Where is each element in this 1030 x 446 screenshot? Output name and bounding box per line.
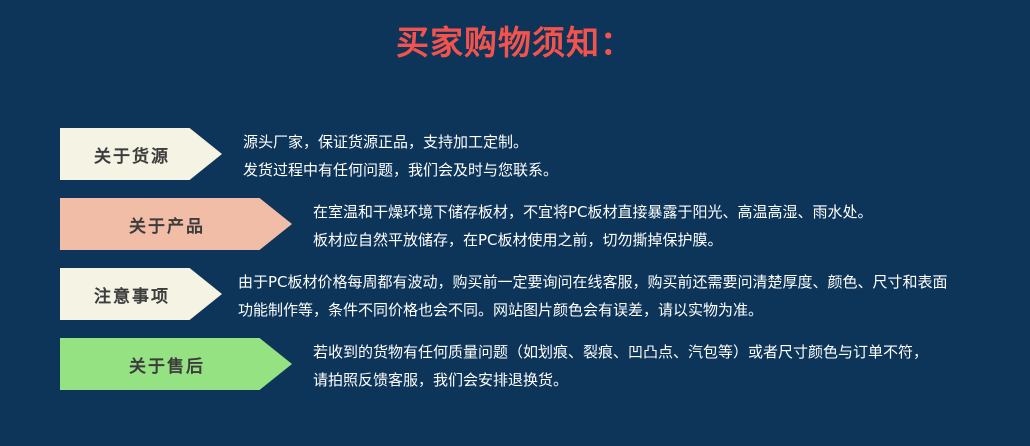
notice-banner-label: 关于售后 [129, 352, 223, 377]
page-title: 买家购物须知： [0, 21, 1030, 65]
notice-row: 注意事项 由于PC板材价格每周都有波动，购买前一定要询问在线客服，购买前还需要问… [0, 268, 1030, 338]
notice-banner-label: 关于货源 [94, 142, 188, 167]
notice-body-line: 源头厂家，保证货源正品，支持加工定制。 [243, 128, 558, 156]
notice-body-line: 由于PC板材价格每周都有波动，购买前一定要询问在线客服，购买前还需要问清楚厚度、… [238, 268, 948, 296]
notice-body: 若收到的货物有任何质量问题（如划痕、裂痕、凹凸点、汽包等）或者尺寸颜色与订单不符… [313, 338, 928, 394]
notice-body: 在室温和干燥环境下储存板材，不宜将PC板材直接暴露于阳光、高温高湿、雨水处。 板… [313, 198, 873, 254]
notice-banner-source: 关于货源 [60, 128, 222, 180]
notice-body: 由于PC板材价格每周都有波动，购买前一定要询问在线客服，购买前还需要问清楚厚度、… [238, 268, 948, 324]
notice-row: 关于售后 若收到的货物有任何质量问题（如划痕、裂痕、凹凸点、汽包等）或者尺寸颜色… [0, 338, 1030, 408]
notice-row: 关于货源 源头厂家，保证货源正品，支持加工定制。 发货过程中有任何问题，我们会及… [0, 128, 1030, 198]
notice-banner-label: 关于产品 [129, 212, 223, 237]
notice-body: 源头厂家，保证货源正品，支持加工定制。 发货过程中有任何问题，我们会及时与您联系… [243, 128, 558, 184]
notice-body-line: 板材应自然平放储存，在PC板材使用之前，切勿撕掉保护膜。 [313, 226, 873, 254]
notice-banner-aftersales: 关于售后 [60, 338, 292, 390]
notice-body-line: 功能制作等，条件不同价格也会不同。网站图片颜色会有误差，请以实物为准。 [238, 296, 948, 324]
notice-body-line: 请拍照反馈客服，我们会安排退换货。 [313, 366, 928, 394]
notice-row: 关于产品 在室温和干燥环境下储存板材，不宜将PC板材直接暴露于阳光、高温高湿、雨… [0, 198, 1030, 268]
notice-body-line: 发货过程中有任何问题，我们会及时与您联系。 [243, 156, 558, 184]
notice-body-line: 若收到的货物有任何质量问题（如划痕、裂痕、凹凸点、汽包等）或者尺寸颜色与订单不符… [313, 338, 928, 366]
notice-banner-label: 注意事项 [94, 282, 188, 307]
notice-banner-attention: 注意事项 [60, 268, 222, 320]
notice-body-line: 在室温和干燥环境下储存板材，不宜将PC板材直接暴露于阳光、高温高湿、雨水处。 [313, 198, 873, 226]
notice-list: 关于货源 源头厂家，保证货源正品，支持加工定制。 发货过程中有任何问题，我们会及… [0, 128, 1030, 408]
notice-banner-product: 关于产品 [60, 198, 292, 250]
